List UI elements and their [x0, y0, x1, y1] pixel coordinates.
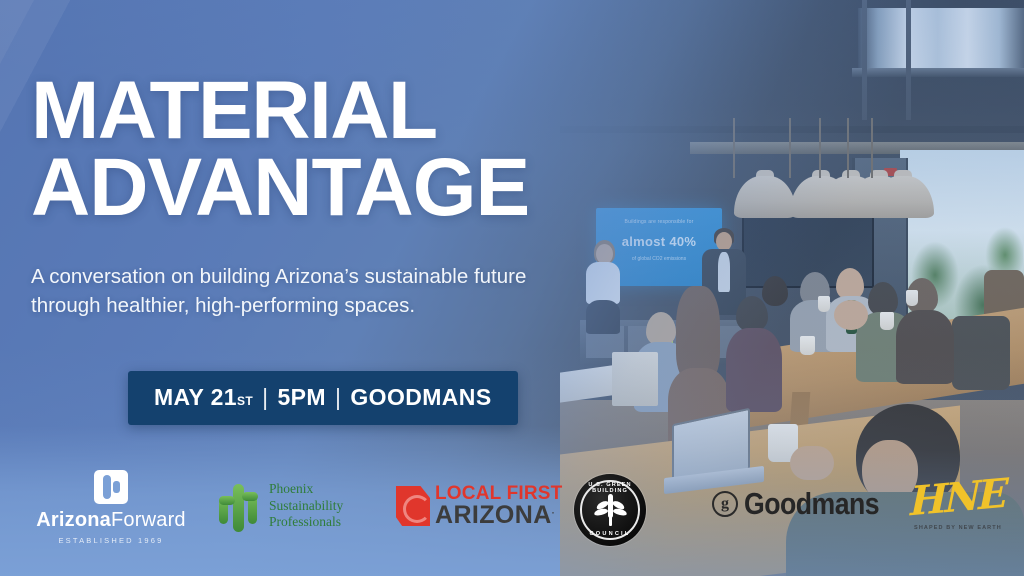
subheadline: A conversation on building Arizona’s sus…: [31, 262, 551, 320]
logo-us-green-building-council[interactable]: U.S. GREEN BUILDING COUNCIL: [574, 474, 646, 546]
seal-arc-bottom: COUNCIL: [574, 531, 646, 537]
logo-local-first-arizona[interactable]: LOCAL FIRST ARIZONA.: [396, 484, 562, 528]
event-venue: GOODMANS: [350, 384, 491, 411]
leaf-seal-icon: U.S. GREEN BUILDING COUNCIL: [574, 474, 646, 546]
event-time: 5PM: [277, 384, 326, 411]
local-first-wordmark: LOCAL FIRST ARIZONA.: [435, 484, 562, 528]
logo-arizona-forward[interactable]: ArizonaForward ESTABLISHED 1969: [22, 470, 200, 545]
page-title: MATERIAL ADVANTAGE: [31, 72, 529, 226]
cactus-icon: [214, 480, 260, 532]
saguaro-cactus-mark-icon: [94, 470, 128, 504]
event-date: MAY 21: [154, 384, 237, 411]
goodmans-wordmark: Goodmans: [744, 486, 879, 522]
content-layer: MATERIAL ADVANTAGE A conversation on bui…: [0, 0, 1024, 576]
psp-line-1: Phoenix: [269, 481, 343, 498]
handwritten-hne-mark-icon: HNE: [910, 474, 1006, 523]
logo-phoenix-sustainability-professionals[interactable]: Phoenix Sustainability Professionals: [214, 480, 343, 532]
arizona-state-outline-icon: [396, 486, 430, 526]
psp-wordmark: Phoenix Sustainability Professionals: [269, 481, 343, 531]
event-details-banner: MAY 21ST | 5PM | GOODMANS: [128, 371, 518, 425]
banner-separator: |: [326, 384, 350, 411]
hne-tagline: SHAPED BY NEW EARTH: [914, 525, 1002, 531]
logo-hne[interactable]: HNE SHAPED BY NEW EARTH: [910, 478, 1006, 531]
arizona-forward-wordmark: ArizonaForward: [36, 509, 186, 532]
headline-line-2: ADVANTAGE: [31, 149, 529, 226]
logo-goodmans[interactable]: g Goodmans: [712, 486, 901, 522]
local-first-line-2: ARIZONA.: [435, 503, 562, 528]
arizona-forward-tagline: ESTABLISHED 1969: [58, 536, 163, 545]
arizona-forward-bold: Arizona: [36, 509, 111, 531]
leaf-emblem: [593, 493, 627, 527]
sponsor-logo-strip: ArizonaForward ESTABLISHED 1969 Phoenix …: [0, 468, 1024, 564]
event-promo-graphic: Buildings are responsible for almost 40%…: [0, 0, 1024, 576]
psp-line-2: Sustainability: [269, 498, 343, 515]
circled-g-icon: g: [712, 491, 738, 517]
psp-line-3: Professionals: [269, 514, 343, 531]
arizona-forward-light: Forward: [111, 509, 186, 531]
date-ordinal-suffix: ST: [237, 394, 253, 408]
banner-separator: |: [253, 384, 277, 411]
